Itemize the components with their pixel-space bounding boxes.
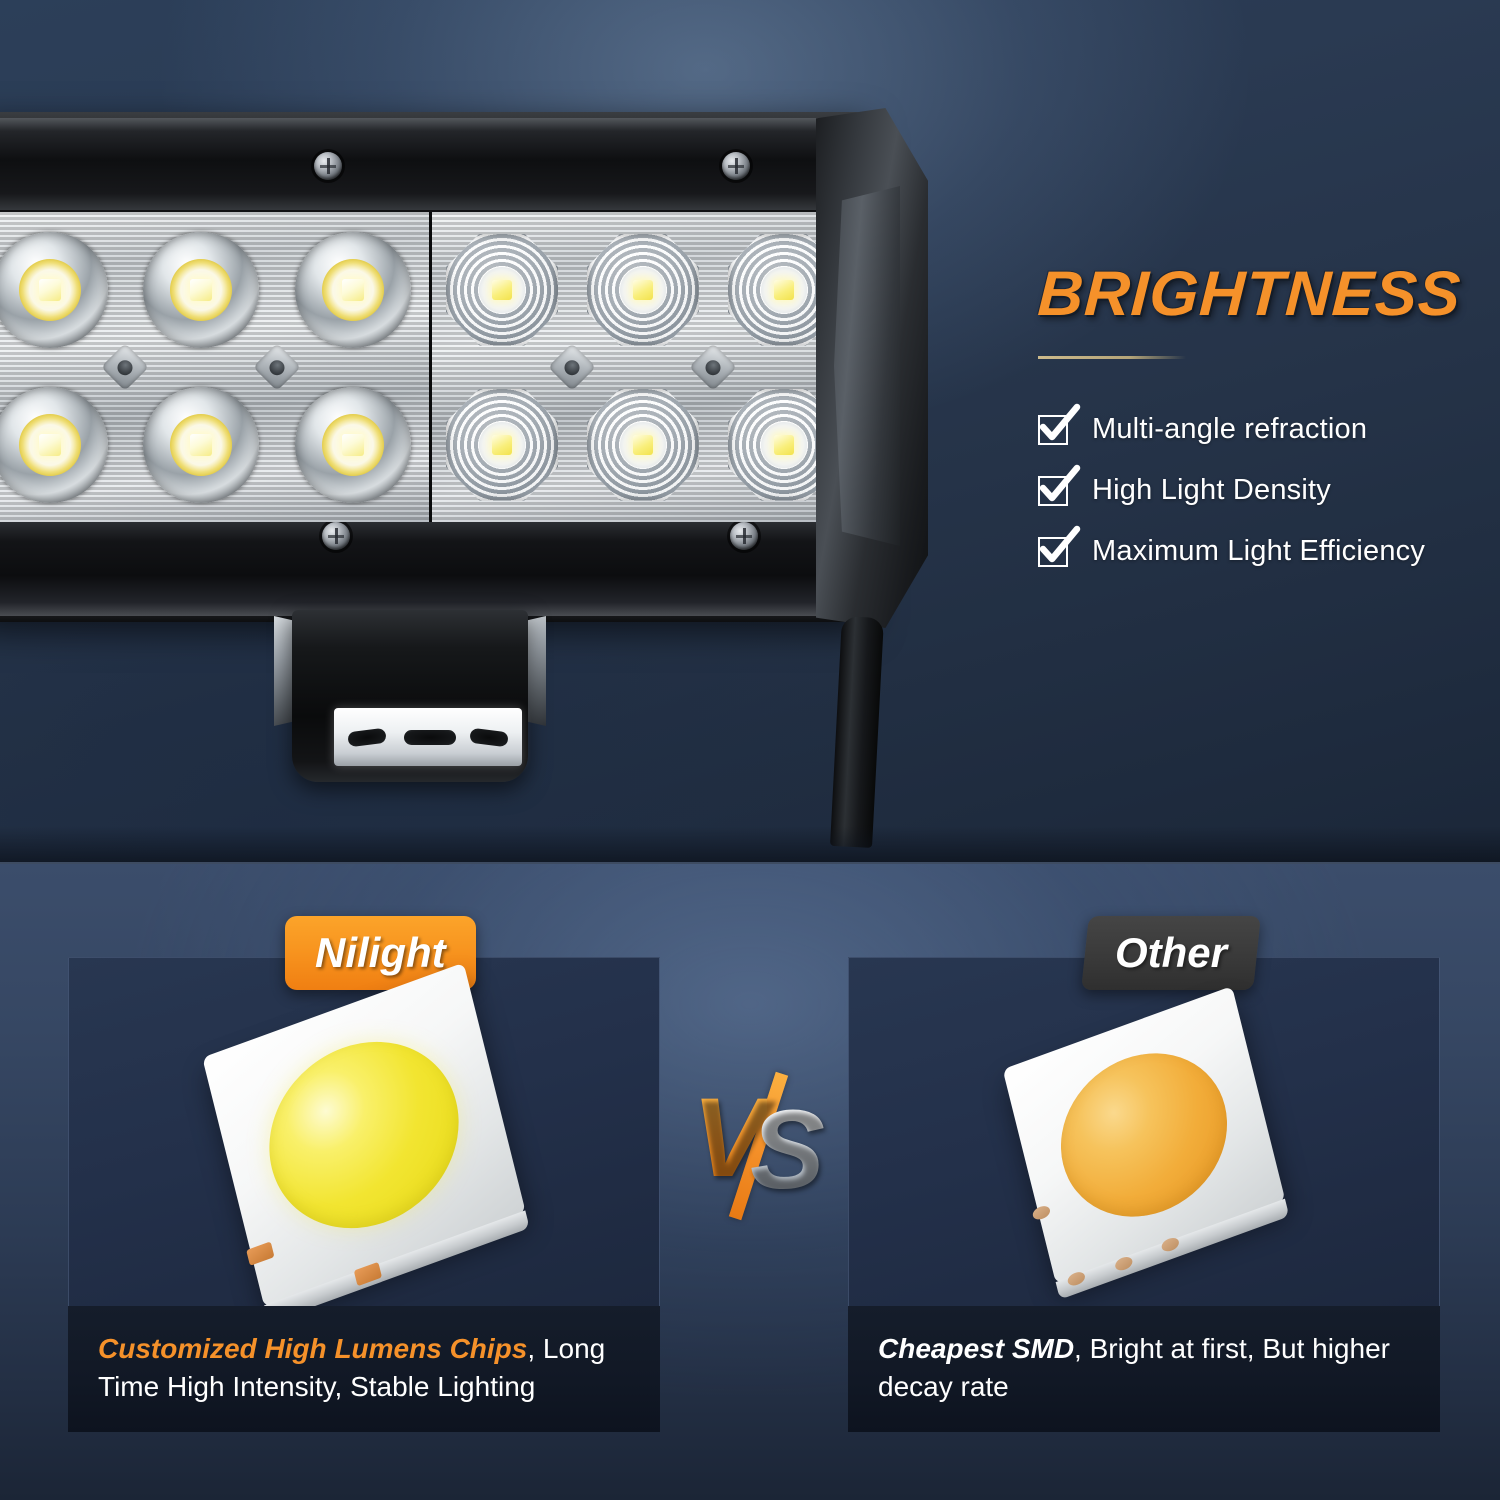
- chip-phosphor-dome: [1044, 1029, 1244, 1240]
- caption-nilight: Customized High Lumens Chips, Long Time …: [68, 1306, 660, 1432]
- power-cable: [830, 616, 884, 848]
- mounting-bracket: [274, 610, 546, 788]
- bracket-slot: [404, 730, 456, 745]
- end-cap-facet: [834, 186, 900, 546]
- feature-label: Maximum Light Efficiency: [1092, 535, 1425, 568]
- lens-cell: [126, 367, 278, 522]
- bracket-slot: [469, 728, 509, 748]
- feature-label: High Light Density: [1092, 474, 1331, 507]
- product-infographic: BRIGHTNESS Multi-angle refraction: [0, 0, 1500, 1500]
- checkbox-checked-icon: [1038, 537, 1068, 567]
- spot-lens-icon: [295, 387, 411, 503]
- chip-phosphor-dome: [250, 1014, 477, 1255]
- bracket-slot: [347, 728, 387, 748]
- feature-item: Maximum Light Efficiency: [1038, 535, 1488, 568]
- badge-nilight-label: Nilight: [315, 929, 446, 977]
- spot-lens-icon: [0, 387, 108, 503]
- spot-lens-icon: [143, 387, 259, 503]
- flood-lens-icon: [587, 389, 699, 501]
- spot-lens-icon: [0, 232, 108, 348]
- chip-solder-pad: [246, 1241, 274, 1266]
- comparison-panel-other: Other: [848, 957, 1440, 1312]
- spot-lens-icon: [295, 232, 411, 348]
- housing-screw-icon: [722, 152, 750, 180]
- checkbox-checked-icon: [1038, 415, 1068, 445]
- comparison-panel-nilight: Nilight: [68, 957, 660, 1312]
- lens-cell: [0, 367, 126, 522]
- other-smd-chip-image: [1003, 985, 1286, 1283]
- flood-lens-icon: [446, 234, 558, 346]
- housing-screw-icon: [730, 522, 758, 550]
- bracket-base-plate: [334, 708, 522, 766]
- lens-plate: [0, 212, 854, 522]
- light-bar-end-cap: [816, 108, 928, 628]
- caption-lead: Cheapest SMD: [878, 1333, 1074, 1364]
- badge-other-label: Other: [1115, 929, 1227, 977]
- chip-body: [202, 962, 526, 1307]
- housing-screw-icon: [314, 152, 342, 180]
- caption-nilight-text: Customized High Lumens Chips, Long Time …: [98, 1330, 630, 1406]
- caption-other-text: Cheapest SMD, Bright at first, But highe…: [878, 1330, 1410, 1406]
- nilight-smd-chip-image: [202, 962, 526, 1307]
- chip-solder-pad: [1032, 1203, 1052, 1221]
- title-divider: [1038, 356, 1186, 359]
- flood-lens-icon: [446, 389, 558, 501]
- checkbox-checked-icon: [1038, 476, 1068, 506]
- housing-bottom-rail: [0, 520, 854, 616]
- badge-other: Other: [1081, 916, 1261, 990]
- flood-lens-group: [432, 212, 854, 522]
- caption-other: Cheapest SMD, Bright at first, But highe…: [848, 1306, 1440, 1432]
- lens-cell: [572, 367, 713, 522]
- versus-s-label: S: [750, 1094, 825, 1206]
- lens-cell: [432, 367, 573, 522]
- caption-lead: Customized High Lumens Chips: [98, 1333, 527, 1364]
- spot-lens-icon: [143, 232, 259, 348]
- led-light-bar-image: [0, 112, 929, 632]
- lens-cell: [0, 212, 126, 367]
- lens-cell: [572, 212, 713, 367]
- feature-item: Multi-angle refraction: [1038, 413, 1488, 446]
- lens-cell: [126, 212, 278, 367]
- housing-screw-icon: [322, 522, 350, 550]
- feature-list: Multi-angle refraction High Light Densit…: [1038, 413, 1488, 568]
- lens-cell: [432, 212, 573, 367]
- chip-body: [1003, 985, 1286, 1283]
- lens-cell: [277, 212, 429, 367]
- feature-item: High Light Density: [1038, 474, 1488, 507]
- lens-cell: [277, 367, 429, 522]
- versus-icon: V S: [694, 1074, 828, 1216]
- spot-lens-group: [0, 212, 432, 522]
- flood-lens-icon: [587, 234, 699, 346]
- brightness-section: BRIGHTNESS Multi-angle refraction: [0, 0, 1500, 862]
- feature-label: Multi-angle refraction: [1092, 413, 1367, 446]
- bracket-body: [292, 610, 528, 782]
- page-title: BRIGHTNESS: [1036, 258, 1490, 330]
- brightness-copy-block: BRIGHTNESS Multi-angle refraction: [1038, 258, 1488, 596]
